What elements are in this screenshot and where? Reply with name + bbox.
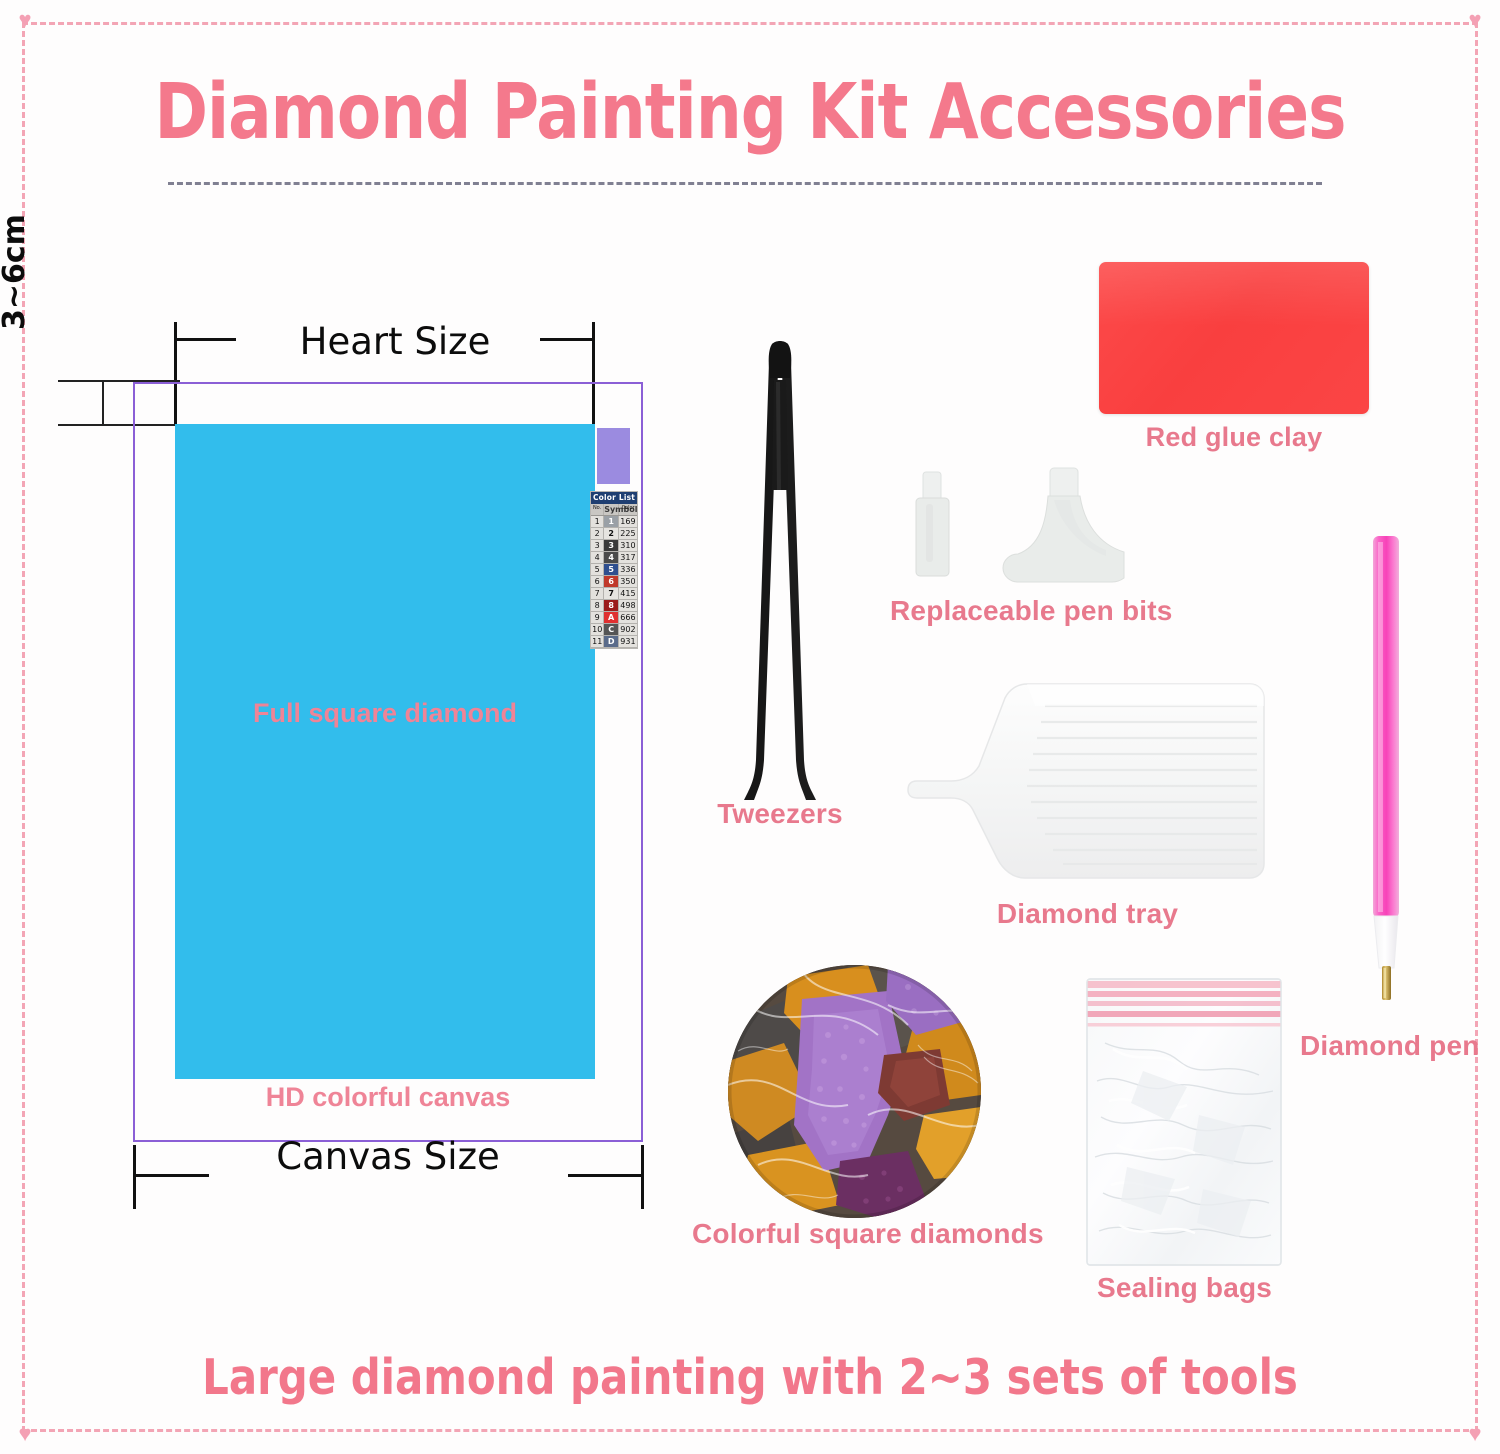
color-row-symbol: 1: [604, 516, 618, 527]
color-row-color: 317: [619, 552, 637, 563]
canvas-size-label: Canvas Size: [133, 1135, 643, 1178]
color-row-no: 3: [591, 540, 604, 551]
color-row-color: 169: [619, 516, 637, 527]
color-row-symbol: 7: [604, 588, 618, 599]
pen-bit-small-icon: [913, 470, 953, 580]
color-row-color: 931: [619, 636, 637, 647]
color-list-row: 11169: [591, 516, 637, 528]
color-list-row: 55336: [591, 564, 637, 576]
printed-area: [175, 424, 595, 1079]
diamonds-icon: [728, 965, 981, 1218]
color-list-header-row: No. Symbol Color: [591, 504, 637, 516]
color-row-color: 415: [619, 588, 637, 599]
pen-bits-label: Replaceable pen bits: [890, 595, 1173, 627]
color-list-row: 10C902: [591, 624, 637, 636]
tweezers-label: Tweezers: [700, 798, 860, 830]
color-row-color: 336: [619, 564, 637, 575]
heart-size-label: Heart Size: [185, 320, 605, 363]
color-list-row: 66350: [591, 576, 637, 588]
full-square-diamond-label: Full square diamond: [175, 698, 595, 729]
color-row-no: 5: [591, 564, 604, 575]
color-list-row: 11D931: [591, 636, 637, 648]
color-list-title: Color List: [591, 492, 637, 504]
color-row-no: 10: [591, 624, 604, 635]
pen-bit-large-icon: [1000, 466, 1130, 584]
color-row-symbol: 8: [604, 600, 618, 611]
sealing-bag-icon: [1083, 975, 1286, 1272]
color-row-color: 666: [619, 612, 637, 623]
color-swatch: [597, 428, 630, 484]
color-list-row: 44317: [591, 552, 637, 564]
color-row-no: 9: [591, 612, 604, 623]
color-row-no: 11: [591, 636, 604, 647]
canvas-size-diagram: Heart Size 3~6cm Full square diamond Col…: [0, 300, 700, 1220]
col-header-color: Color: [619, 504, 637, 515]
col-header-no: No.: [591, 504, 604, 515]
color-list-row: 88498: [591, 600, 637, 612]
color-list-row: 33310: [591, 540, 637, 552]
color-row-no: 4: [591, 552, 604, 563]
heart-size-arrow-left: [174, 338, 236, 341]
sealing-bags-label: Sealing bags: [1063, 1272, 1306, 1304]
margin-bracket: [102, 380, 104, 426]
red-glue-clay-label: Red glue clay: [1099, 422, 1369, 453]
diamond-tray-label: Diamond tray: [905, 898, 1270, 930]
heart-icon: ♥: [14, 10, 36, 30]
color-row-color: 225: [619, 528, 637, 539]
color-row-symbol: A: [604, 612, 618, 623]
color-list-row: 22225: [591, 528, 637, 540]
diamond-tray-icon: [905, 672, 1270, 894]
glue-clay-icon: [1099, 262, 1369, 414]
color-row-no: 6: [591, 576, 604, 587]
color-row-symbol: 4: [604, 552, 618, 563]
diamond-pen-label: Diamond pen: [1300, 1030, 1480, 1062]
color-row-symbol: 5: [604, 564, 618, 575]
color-row-symbol: D: [604, 636, 618, 647]
color-row-symbol: C: [604, 624, 618, 635]
heart-icon: ♥: [1464, 10, 1486, 30]
color-list-row: 9A666: [591, 612, 637, 624]
diamond-pen-icon: [1355, 528, 1415, 1018]
page-title: Diamond Painting Kit Accessories: [53, 68, 1448, 157]
color-row-color: 310: [619, 540, 637, 551]
title-divider: [168, 182, 1322, 185]
footer-caption: Large diamond painting with 2~3 sets of …: [38, 1349, 1463, 1406]
color-row-symbol: 2: [604, 528, 618, 539]
color-list-row: 77415: [591, 588, 637, 600]
diamonds-label: Colorful square diamonds: [692, 1218, 1017, 1250]
color-row-no: 2: [591, 528, 604, 539]
color-list-table: Color List No. Symbol Color 111692222533…: [590, 491, 638, 649]
hd-canvas-label: HD colorful canvas: [133, 1082, 643, 1113]
color-row-color: 498: [619, 600, 637, 611]
heart-size-arrow-right: [540, 338, 595, 341]
col-header-symbol: Symbol: [604, 504, 619, 515]
color-row-no: 7: [591, 588, 604, 599]
color-row-no: 1: [591, 516, 604, 527]
color-row-symbol: 3: [604, 540, 618, 551]
color-row-symbol: 6: [604, 576, 618, 587]
heart-icon: ♥: [14, 1424, 36, 1444]
color-row-color: 902: [619, 624, 637, 635]
tweezers-icon: [700, 340, 860, 810]
heart-icon: ♥: [1464, 1424, 1486, 1444]
color-row-color: 350: [619, 576, 637, 587]
color-row-no: 8: [591, 600, 604, 611]
product-infographic: ♥ ♥ ♥ ♥ Diamond Painting Kit Accessories…: [0, 0, 1500, 1454]
margin-label: 3~6cm: [0, 214, 32, 330]
